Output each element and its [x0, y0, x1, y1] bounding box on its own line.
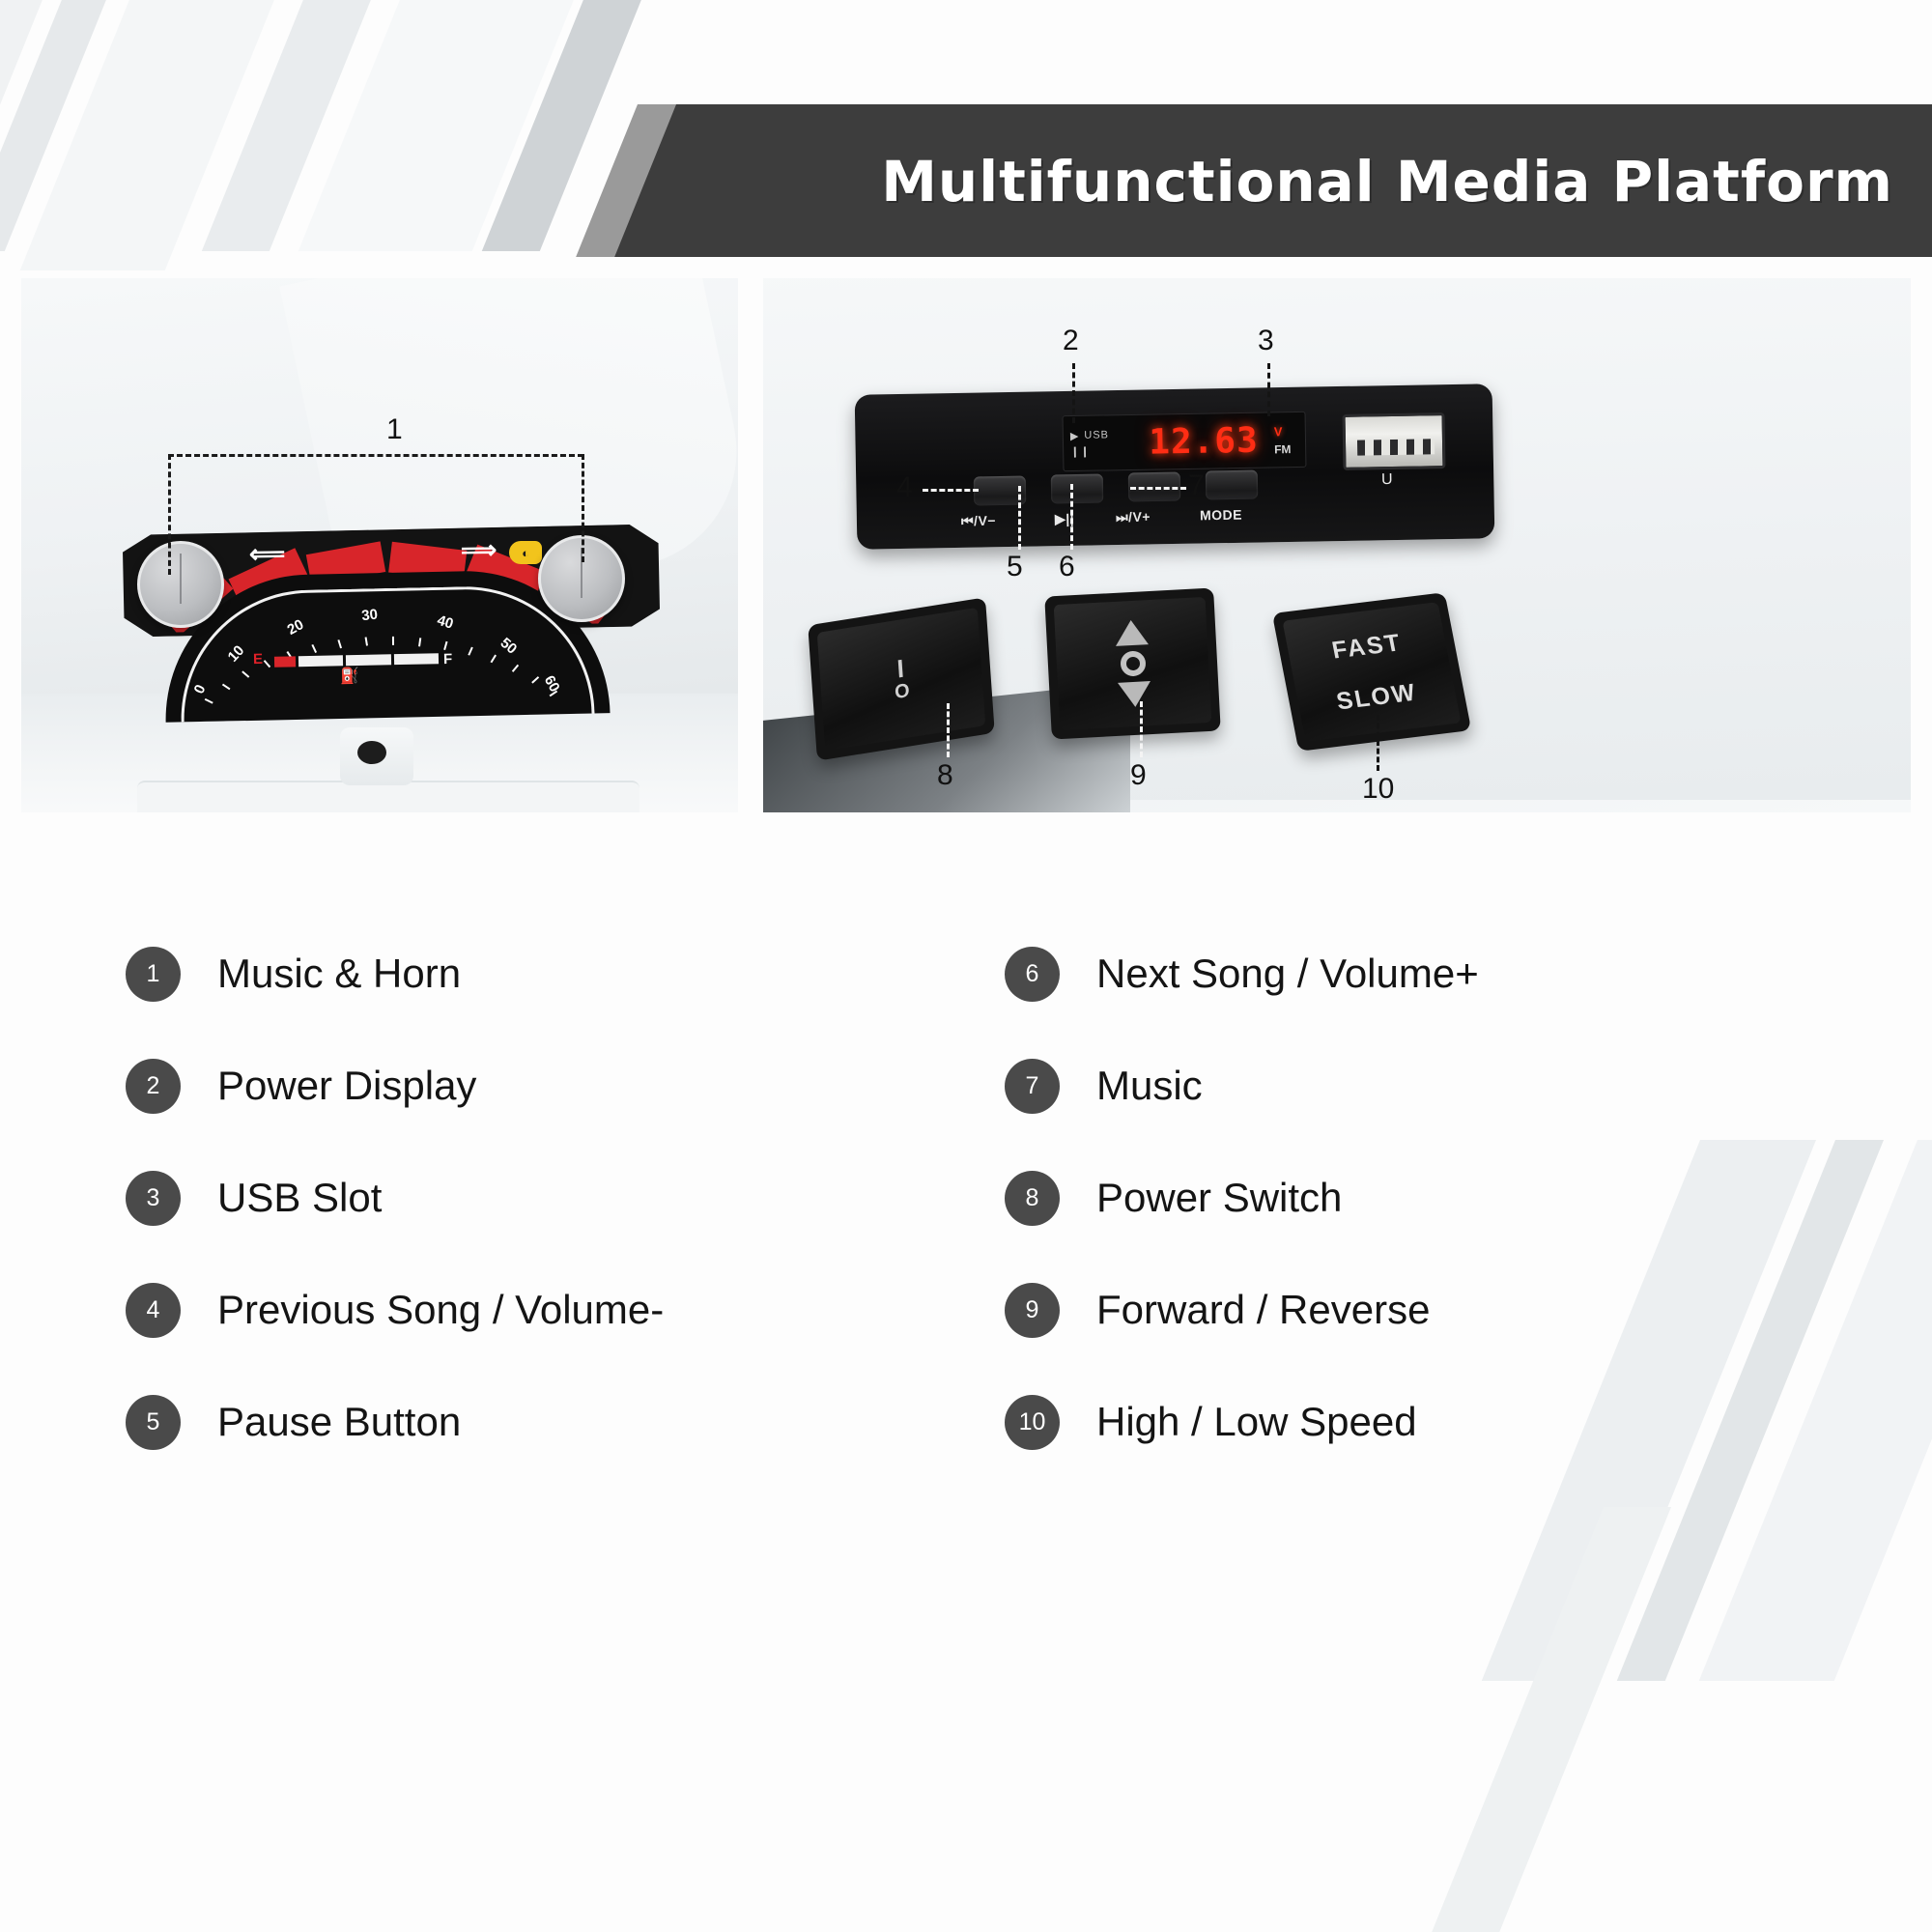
lcd-fm-label: FM — [1274, 441, 1305, 456]
lcd-play-row: ▶ USB — [1070, 428, 1133, 441]
callout-2-leader — [1072, 363, 1075, 423]
fast-label: FAST — [1329, 629, 1404, 665]
fuel-segment — [394, 653, 440, 665]
callout-8-leader — [947, 703, 950, 757]
legend-badge: 2 — [126, 1059, 181, 1114]
list-item: 6 Next Song / Volume+ — [1005, 918, 1874, 1030]
callout-1-bracket-top — [168, 454, 583, 457]
power-off-symbol: O — [895, 683, 910, 700]
direction-switch[interactable] — [1044, 588, 1221, 740]
callout-3-leader — [1267, 363, 1270, 416]
lcd-status-labels: ▶ USB ❙❙ — [1064, 415, 1134, 470]
infographic-page: Multifunctional Media Platform 0 10 20 — [0, 0, 1932, 1932]
fuel-full-label: F — [443, 651, 453, 668]
next-volume-up-label: ⏭/V+ — [1116, 509, 1151, 526]
legend-label: USB Slot — [217, 1175, 382, 1221]
callout-4-leader — [923, 489, 979, 492]
page-title: Multifunctional Media Platform — [850, 124, 1893, 240]
list-item: 7 Music — [1005, 1030, 1874, 1142]
legend-label: Pause Button — [217, 1399, 461, 1445]
direction-switch-face — [1054, 597, 1212, 730]
callout-9-leader — [1140, 701, 1143, 757]
mode-label: MODE — [1200, 507, 1242, 524]
usb-label: U — [1381, 471, 1393, 489]
callout-number-9: 9 — [1130, 759, 1147, 792]
legend-badge: 7 — [1005, 1059, 1060, 1114]
lcd-pause-row: ❙❙ — [1070, 443, 1133, 457]
fuel-pump-icon: ⛽ — [340, 667, 359, 686]
fuel-segment-low — [274, 656, 296, 667]
lcd-usb-label: USB — [1084, 429, 1109, 440]
list-item: 10 High / Low Speed — [1005, 1366, 1874, 1478]
fuel-empty-label: E — [253, 651, 263, 668]
callout-number-1: 1 — [386, 413, 403, 446]
power-switch-face: I O — [817, 608, 985, 751]
speed-switch[interactable]: FAST SLOW — [1272, 592, 1471, 752]
prev-volume-down-label: ⏮/V− — [961, 513, 996, 530]
right-turn-signal-icon: ⟹ — [461, 537, 497, 563]
callout-number-8: 8 — [937, 759, 953, 792]
legend-badge: 3 — [126, 1171, 181, 1226]
right-photo-panel: ▶ USB ❙❙ 12.63 V FM U ⏮/V− ▶|| ⏭/V+ MODE — [763, 278, 1911, 812]
power-switch[interactable]: I O — [808, 597, 995, 760]
mode-button[interactable] — [1206, 470, 1259, 500]
list-item: 3 USB Slot — [126, 1142, 995, 1254]
list-item: 8 Power Switch — [1005, 1142, 1874, 1254]
callout-7-leader — [1130, 487, 1186, 490]
callout-number-6: 6 — [1059, 551, 1075, 583]
music-knob[interactable] — [137, 541, 224, 628]
legend-label: Power Display — [217, 1063, 476, 1109]
legend: 1 Music & Horn 2 Power Display 3 USB Slo… — [0, 850, 1932, 1932]
list-item: 9 Forward / Reverse — [1005, 1254, 1874, 1366]
triangle-down-icon — [1118, 681, 1151, 708]
legend-label: Previous Song / Volume- — [217, 1287, 664, 1333]
legend-label: Forward / Reverse — [1096, 1287, 1430, 1333]
callout-1-leader-right — [582, 454, 584, 562]
callout-number-10: 10 — [1362, 773, 1394, 806]
pause-icon: ❙❙ — [1070, 444, 1091, 457]
callout-5-leader — [1018, 486, 1021, 550]
power-on-symbol: I — [896, 658, 905, 679]
usb-slot[interactable] — [1343, 412, 1446, 470]
fuel-segment — [298, 655, 344, 667]
legend-column-right: 6 Next Song / Volume+ 7 Music 8 Power Sw… — [1005, 918, 1874, 1478]
triangle-up-icon — [1114, 619, 1148, 646]
legend-label: Music — [1096, 1063, 1203, 1109]
fuel-segment — [346, 654, 391, 666]
headlight-icon: ◐ — [509, 541, 542, 564]
legend-badge: 5 — [126, 1395, 181, 1450]
list-item: 4 Previous Song / Volume- — [126, 1254, 995, 1366]
list-item: 2 Power Display — [126, 1030, 995, 1142]
circle-icon — [1120, 650, 1146, 676]
speed-switch-face: FAST SLOW — [1282, 602, 1461, 742]
callout-number-3: 3 — [1258, 325, 1274, 357]
legend-label: Next Song / Volume+ — [1096, 951, 1479, 997]
callout-number-7: 7 — [1188, 469, 1205, 502]
legend-badge: 9 — [1005, 1283, 1060, 1338]
speed-tick-30: 30 — [360, 607, 378, 625]
play-icon: ▶ — [1070, 429, 1080, 441]
legend-column-left: 1 Music & Horn 2 Power Display 3 USB Slo… — [126, 918, 995, 1478]
callout-number-2: 2 — [1063, 325, 1079, 357]
callout-6-leader — [1070, 484, 1073, 550]
legend-label: Power Switch — [1096, 1175, 1342, 1221]
left-photo-panel: 0 10 20 30 40 50 60 E — [21, 278, 738, 812]
callout-number-4: 4 — [896, 471, 913, 504]
slow-label: SLOW — [1334, 678, 1419, 716]
lcd-volt-label: V — [1274, 423, 1305, 439]
legend-badge: 1 — [126, 947, 181, 1002]
callout-number-5: 5 — [1007, 551, 1023, 583]
latch-hole — [357, 741, 386, 764]
legend-badge: 6 — [1005, 947, 1060, 1002]
legend-badge: 4 — [126, 1283, 181, 1338]
play-pause-button[interactable] — [1051, 474, 1104, 504]
left-turn-signal-icon: ⟸ — [249, 541, 286, 567]
callout-10-leader — [1377, 715, 1379, 771]
legend-label: High / Low Speed — [1096, 1399, 1417, 1445]
callout-1-leader-left — [168, 454, 171, 575]
lcd-voltage-value: 12.63 — [1133, 420, 1275, 463]
hood-latch — [340, 727, 413, 785]
legend-badge: 8 — [1005, 1171, 1060, 1226]
header: Multifunctional Media Platform — [0, 0, 1932, 319]
lcd-mode-labels: V FM — [1273, 412, 1305, 468]
list-item: 5 Pause Button — [126, 1366, 995, 1478]
power-display: ▶ USB ❙❙ 12.63 V FM — [1063, 412, 1307, 471]
legend-label: Music & Horn — [217, 951, 461, 997]
list-item: 1 Music & Horn — [126, 918, 995, 1030]
legend-badge: 10 — [1005, 1395, 1060, 1450]
